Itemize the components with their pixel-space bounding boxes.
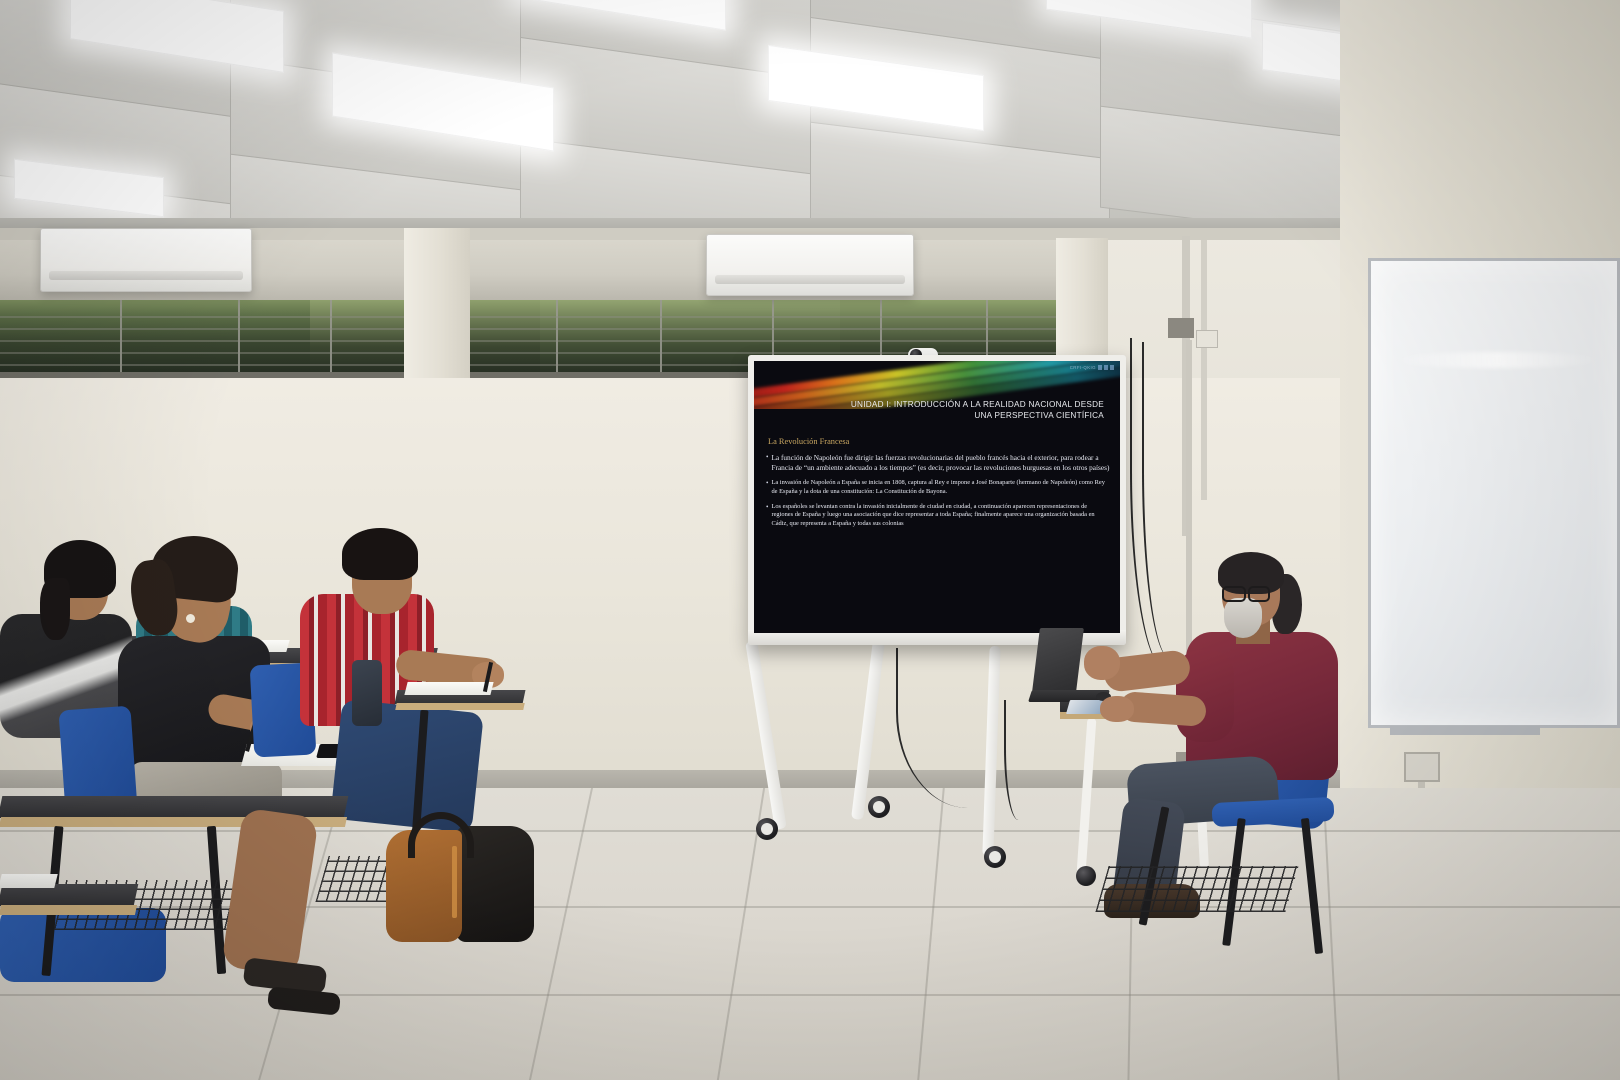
bullet-icon: • [766, 479, 768, 496]
earring [186, 614, 195, 623]
student-1-hair [40, 578, 70, 640]
air-conditioner-unit [40, 228, 252, 292]
whiteboard-glare [1392, 352, 1602, 368]
whiteboard-tray [1390, 726, 1540, 735]
instructor-hand [1100, 696, 1134, 722]
chair-basket [1095, 866, 1298, 912]
slide-bullet: • La invasión de Napoleón a España se in… [766, 479, 1110, 496]
slide-title: UNIDAD I: INTRODUCCIÓN A LA REALIDAD NAC… [794, 399, 1104, 421]
backpack-zipper [452, 846, 457, 918]
wall-pillar [404, 228, 470, 398]
desk-caster [1076, 866, 1096, 886]
tripod-caster [868, 796, 890, 818]
slide: CRFI-QKIG UNIDAD I: INTRODUCCIÓN A LA RE… [754, 361, 1120, 633]
slide-heading: La Revolución Francesa [768, 437, 849, 446]
backpack [386, 812, 532, 942]
slide-title-line-1: UNIDAD I: INTRODUCCIÓN A LA REALIDAD NAC… [794, 399, 1104, 410]
bullet-icon: • [766, 453, 768, 472]
glasses-icon [1222, 586, 1246, 602]
bullet-icon: • [766, 503, 768, 528]
presentation-display[interactable]: CRFI-QKIG UNIDAD I: INTRODUCCIÓN A LA RE… [754, 361, 1120, 633]
air-conditioner-unit [706, 234, 914, 296]
slide-bullet: • La función de Napoleón fue dirigir las… [766, 453, 1110, 472]
slide-body: • La función de Napoleón fue dirigir las… [766, 453, 1110, 535]
tripod-caster [984, 846, 1006, 868]
junction-box [1196, 330, 1218, 348]
tripod-caster [756, 818, 778, 840]
instructor-beard [1224, 598, 1262, 638]
paper [0, 874, 58, 888]
desk-edge [0, 905, 137, 915]
instructor-hand [1084, 646, 1120, 680]
junction-box [1168, 318, 1194, 338]
notebook [404, 682, 493, 695]
slide-title-line-2: UNA PERSPECTIVA CIENTÍFICA [794, 410, 1104, 421]
glasses-icon [1248, 586, 1270, 602]
slide-watermark: CRFI-QKIG [1070, 365, 1114, 370]
slide-bullet: • Los españoles se levantan contra la in… [766, 503, 1110, 528]
wall-outlet[interactable] [1404, 752, 1440, 782]
desk-edge [395, 703, 524, 710]
student-4-hair [342, 528, 418, 580]
classroom-photo: CRFI-QKIG UNIDAD I: INTRODUCCIÓN A LA RE… [0, 0, 1620, 1080]
laptop-screen[interactable] [1032, 628, 1084, 692]
whiteboard [1368, 258, 1620, 728]
glasses-icon [86, 578, 112, 592]
water-bottle [352, 660, 382, 726]
backpack-strap [408, 812, 474, 858]
wall-conduit [1201, 240, 1207, 500]
